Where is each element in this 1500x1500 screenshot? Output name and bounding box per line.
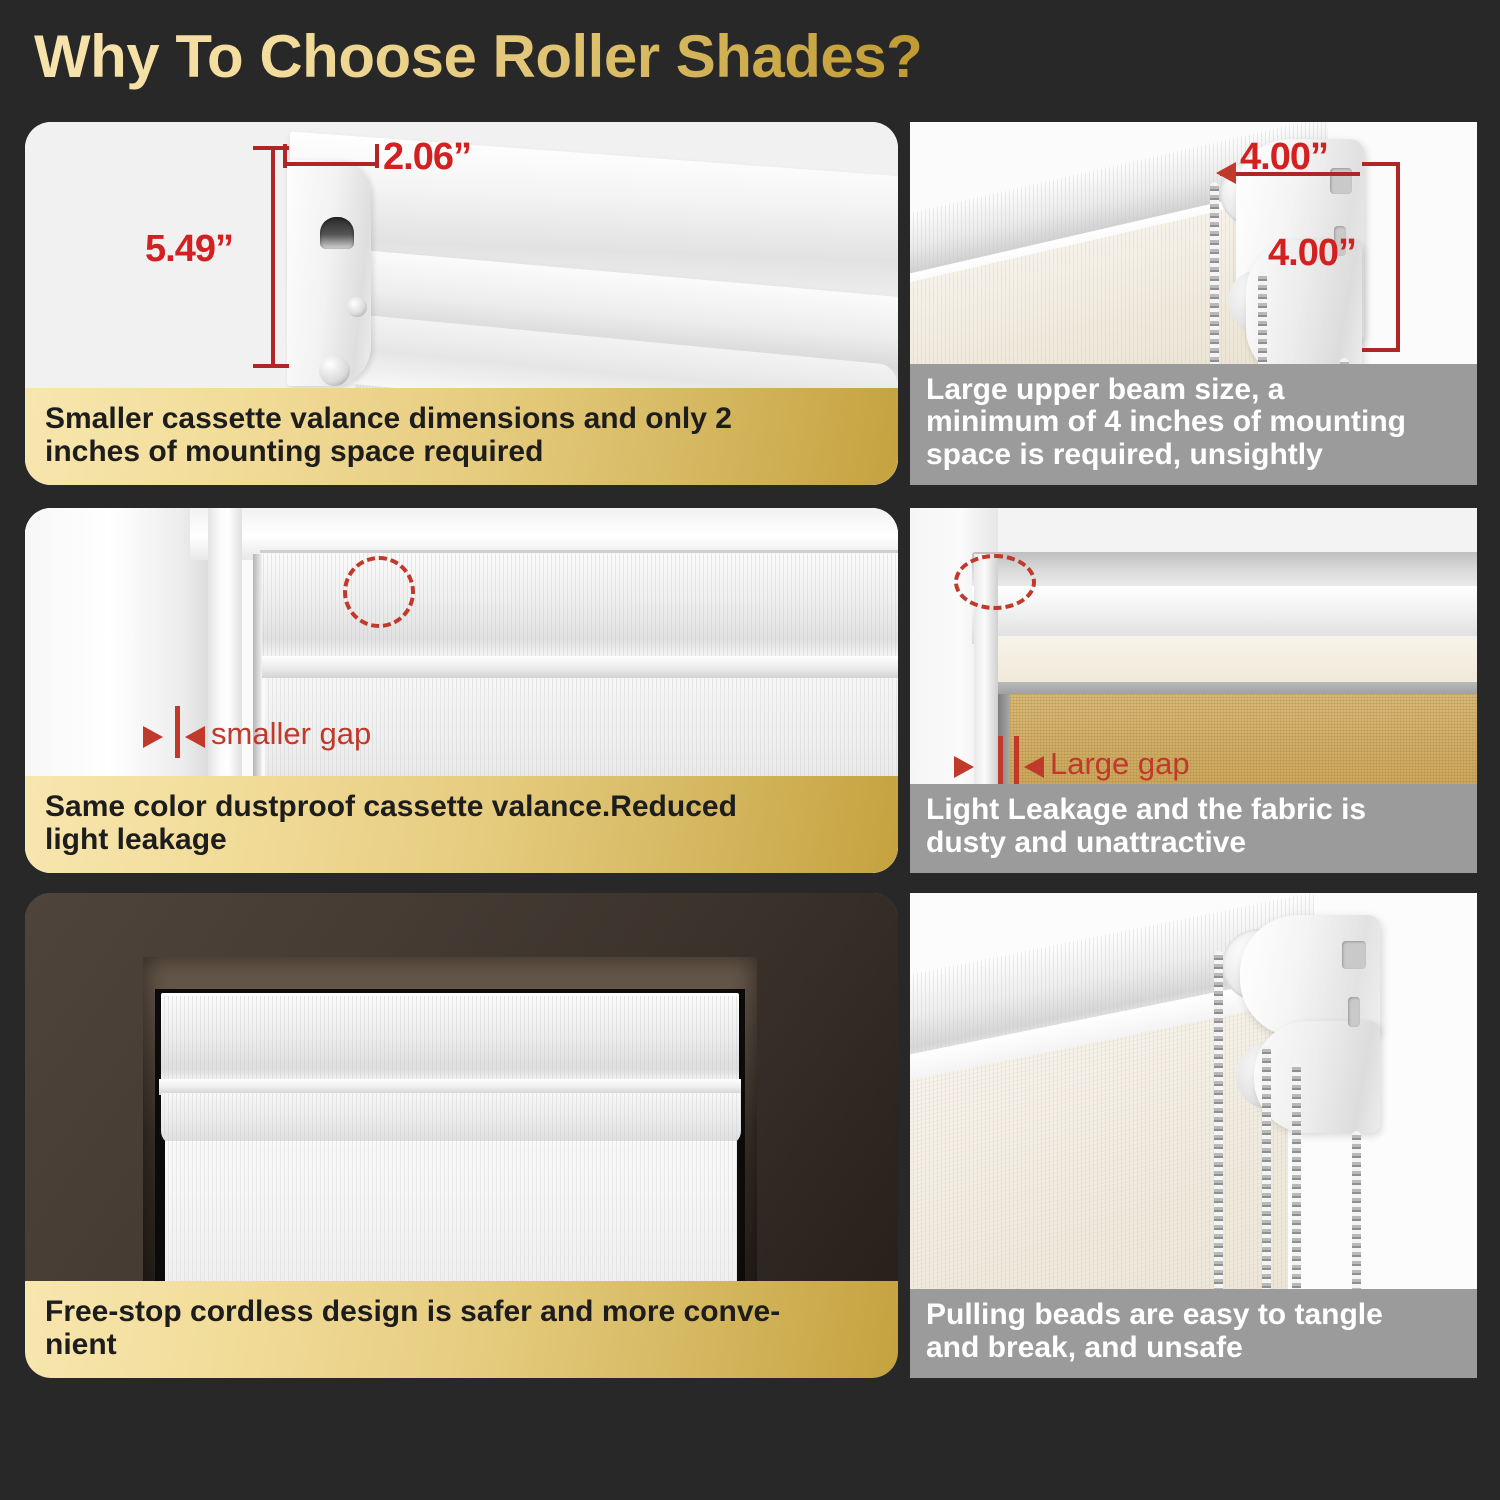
caption-line-2: and break, and unsafe [926,1332,1463,1364]
caption-line-2: nient [45,1328,880,1362]
width-dimension-label: 4.00” [1240,136,1328,179]
caption-line-1: Same color dustproof cassette valance.Re… [45,790,880,824]
bead-chain-2 [1262,1045,1271,1323]
height-dimension-label: 4.00” [1268,232,1356,275]
panel-free-stop-cordless-design: Free-stop cordless design is safer and m… [25,893,898,1378]
caption-dustproof-cassette-valance: Same color dustproof cassette valance.Re… [25,776,898,873]
gap-arrow-left [143,726,163,748]
gap-tick [175,706,180,758]
gap-tick-2 [1014,736,1019,788]
highlight-circle-icon [343,556,415,628]
caption-line-1: Light Leakage and the fabric is [926,794,1463,826]
height-dim-tick-bottom [1362,348,1400,352]
panel-cassette-valance-dimensions: 2.06” 5.49” Smaller cassette valance dim… [25,122,898,485]
bead-chain-3 [1292,1063,1301,1323]
gap-arrow-right [1024,756,1044,778]
caption-large-upper-beam: Large upper beam size, a minimum of 4 in… [910,364,1477,485]
caption-line-2: light leakage [45,823,880,857]
height-dim-tick-top [1362,162,1400,166]
caption-light-leakage-dusty-fabric: Light Leakage and the fabric is dusty an… [910,784,1477,873]
bead-chain-1 [1214,951,1223,1323]
height-dim-tick-bottom [253,364,289,368]
caption-pulling-beads-tangle: Pulling beads are easy to tangle and bre… [910,1289,1477,1378]
panel-large-upper-beam: 4.00” 4.00” Large upper beam size, a min… [910,122,1477,485]
height-dimension-label: 5.49” [145,228,233,271]
caption-line-1: Pulling beads are easy to tangle [926,1299,1463,1331]
caption-line-2: dusty and unattractive [926,827,1463,859]
caption-free-stop-cordless-design: Free-stop cordless design is safer and m… [25,1281,898,1378]
caption-line-2: minimum of 4 inches of mounting [926,406,1463,438]
gap-tick-1 [998,736,1003,788]
panel-light-leakage-dusty-fabric: Large gap Light Leakage and the fabric i… [910,508,1477,873]
caption-line-1: Free-stop cordless design is safer and m… [45,1295,880,1329]
height-dim-line [271,146,275,368]
caption-line-2: inches of mounting space required [45,435,880,469]
height-dim-tick-top [253,146,289,150]
width-dim-line [283,162,379,166]
gap-label: smaller gap [211,716,371,752]
highlight-circle-icon [954,554,1036,610]
gap-arrow-right [185,726,205,748]
panel-dustproof-cassette-valance: smaller gap Same color dustproof cassett… [25,508,898,873]
caption-line-3: space is required, unsightly [926,439,1463,471]
panel-pulling-beads-tangle: Pulling beads are easy to tangle and bre… [910,893,1477,1378]
gap-label: Large gap [1050,746,1190,782]
caption-line-1: Smaller cassette valance dimensions and … [45,402,880,436]
caption-line-1: Large upper beam size, a [926,374,1463,406]
width-dimension-label: 2.06” [383,136,471,179]
gap-arrow-left [954,756,974,778]
caption-cassette-valance-dimensions: Smaller cassette valance dimensions and … [25,388,898,485]
width-dim-tick-right [375,144,379,168]
page-title: Why To Choose Roller Shades? [34,22,922,91]
width-dim-arrow-left [1216,162,1236,184]
height-dim-line [1396,162,1400,352]
infographic-root: Why To Choose Roller Shades? 2.06” 5.49” [0,0,1500,1500]
